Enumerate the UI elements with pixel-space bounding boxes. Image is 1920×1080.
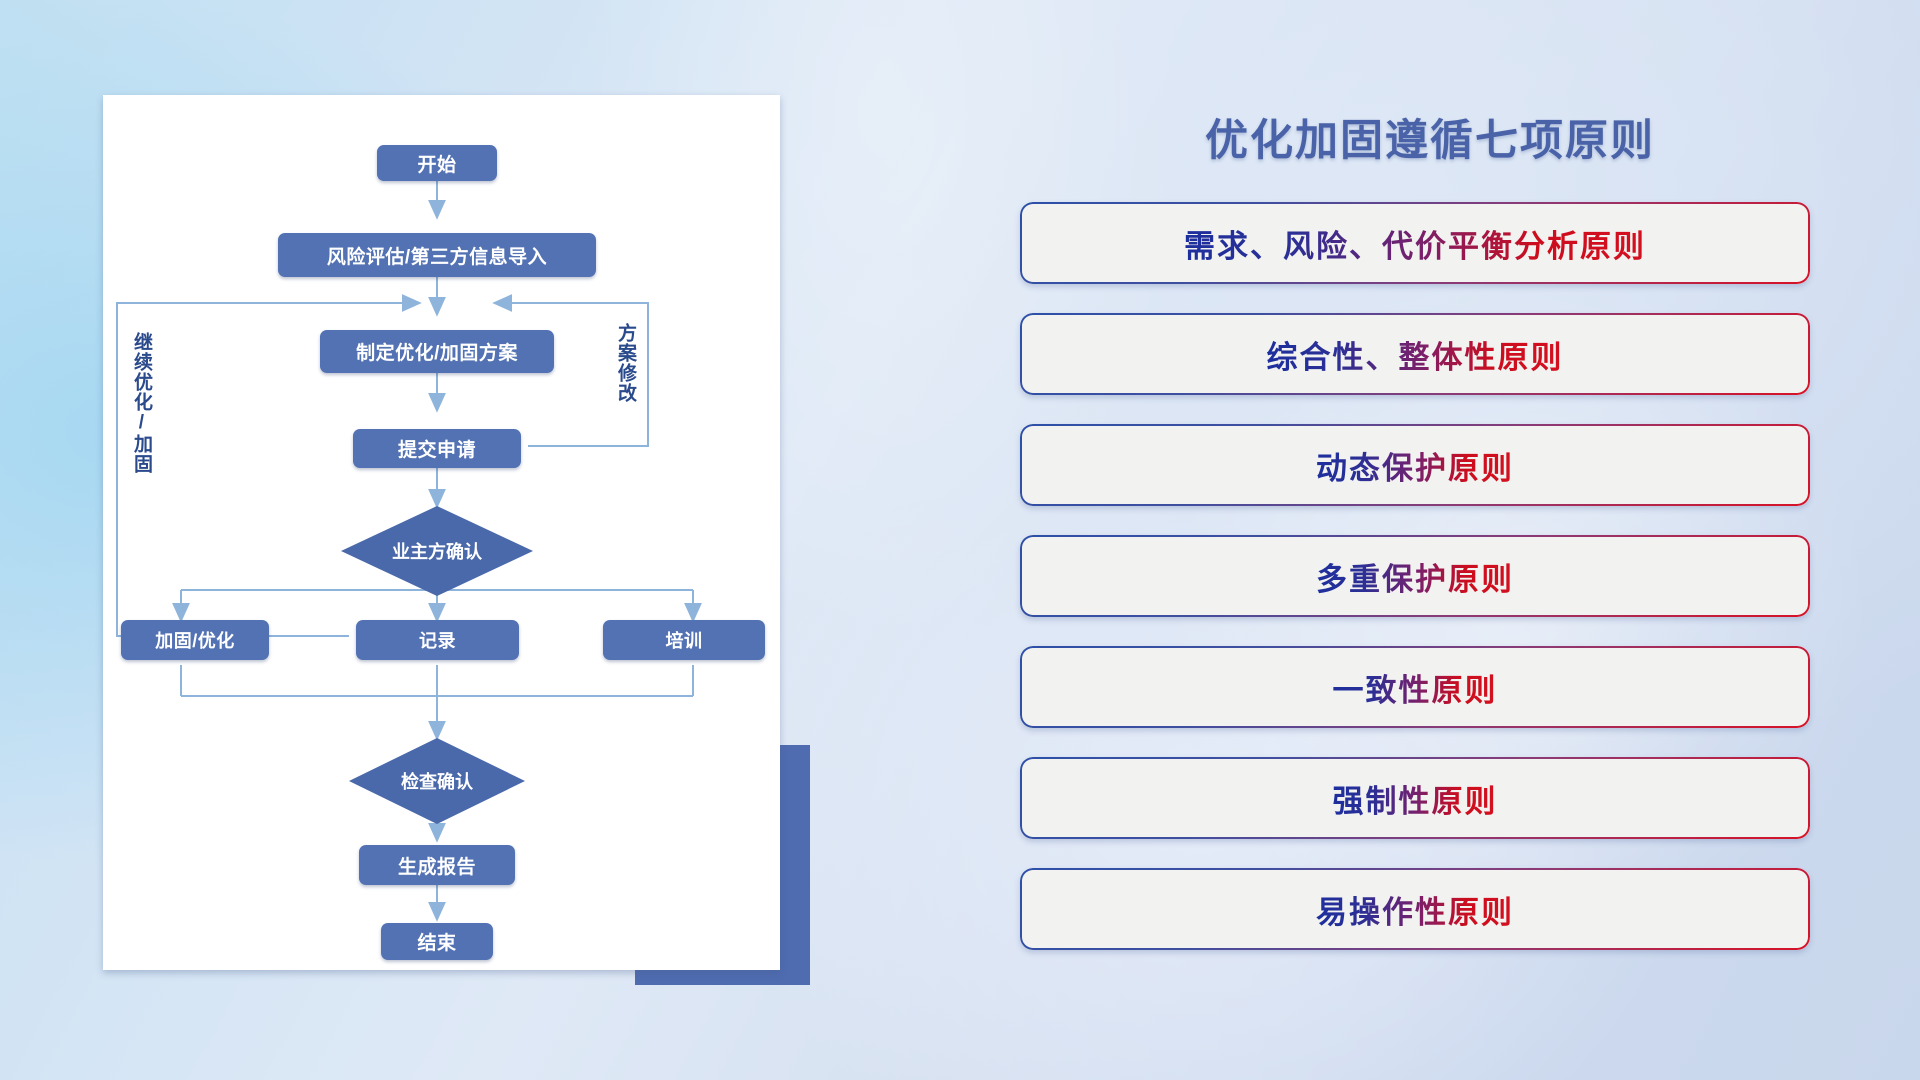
principle-label: 多重保护原则 bbox=[1316, 554, 1514, 599]
principle-label: 动态保护原则 bbox=[1316, 443, 1514, 488]
flow-node-plan[interactable]: 制定优化/加固方案 bbox=[320, 330, 554, 373]
principle-label: 需求、风险、代价平衡分析原则 bbox=[1184, 221, 1646, 266]
flowchart-stage: 开始 风险评估/第三方信息导入 制定优化/加固方案 提交申请 业主方确认 加固/… bbox=[103, 95, 780, 970]
flow-node-label: 结束 bbox=[417, 928, 456, 955]
flowchart-panel: 开始 风险评估/第三方信息导入 制定优化/加固方案 提交申请 业主方确认 加固/… bbox=[103, 95, 780, 970]
flow-node-label: 开始 bbox=[417, 150, 456, 177]
principle-card-7[interactable]: 易操作性原则 bbox=[1020, 868, 1810, 950]
flow-node-reinforce[interactable]: 加固/优化 bbox=[121, 620, 269, 660]
flow-decision-inspection-confirm[interactable]: 检查确认 bbox=[349, 738, 525, 824]
flow-node-label: 培训 bbox=[666, 627, 703, 653]
flow-node-label: 制定优化/加固方案 bbox=[356, 338, 518, 365]
flow-node-record[interactable]: 记录 bbox=[356, 620, 519, 660]
principle-label: 强制性原则 bbox=[1333, 776, 1498, 821]
principle-label: 综合性、整体性原则 bbox=[1267, 332, 1564, 377]
flow-node-label: 检查确认 bbox=[401, 768, 473, 794]
principle-label: 一致性原则 bbox=[1333, 665, 1498, 710]
principle-label: 易操作性原则 bbox=[1316, 887, 1514, 932]
flow-node-label: 业主方确认 bbox=[392, 538, 482, 564]
flow-node-end[interactable]: 结束 bbox=[381, 923, 493, 960]
principle-card-1[interactable]: 需求、风险、代价平衡分析原则 bbox=[1020, 202, 1810, 284]
principle-card-4[interactable]: 多重保护原则 bbox=[1020, 535, 1810, 617]
flow-decision-owner-confirm[interactable]: 业主方确认 bbox=[341, 506, 533, 596]
flow-node-label: 风险评估/第三方信息导入 bbox=[327, 242, 547, 269]
principle-card-5[interactable]: 一致性原则 bbox=[1020, 646, 1810, 728]
flow-node-submit-application[interactable]: 提交申请 bbox=[353, 429, 521, 468]
principle-card-3[interactable]: 动态保护原则 bbox=[1020, 424, 1810, 506]
flow-node-label: 加固/优化 bbox=[155, 627, 235, 653]
edge-label-plan-revision: 方案修改 bbox=[615, 323, 635, 403]
principles-panel: 优化加固遵循七项原则 需求、风险、代价平衡分析原则 综合性、整体性原则 动态保护… bbox=[1020, 90, 1840, 1020]
flow-node-training[interactable]: 培训 bbox=[603, 620, 765, 660]
flow-node-risk-assessment[interactable]: 风险评估/第三方信息导入 bbox=[278, 233, 596, 277]
flow-node-label: 记录 bbox=[419, 627, 456, 653]
flow-node-label: 提交申请 bbox=[398, 435, 476, 462]
page-title: 优化加固遵循七项原则 bbox=[1020, 106, 1840, 168]
flow-node-generate-report[interactable]: 生成报告 bbox=[359, 845, 515, 885]
flow-node-label: 生成报告 bbox=[398, 852, 476, 879]
edge-label-continue-optimize: 继续优化/加固 bbox=[131, 332, 151, 474]
principle-card-2[interactable]: 综合性、整体性原则 bbox=[1020, 313, 1810, 395]
principle-card-6[interactable]: 强制性原则 bbox=[1020, 757, 1810, 839]
flow-node-start[interactable]: 开始 bbox=[377, 145, 497, 181]
